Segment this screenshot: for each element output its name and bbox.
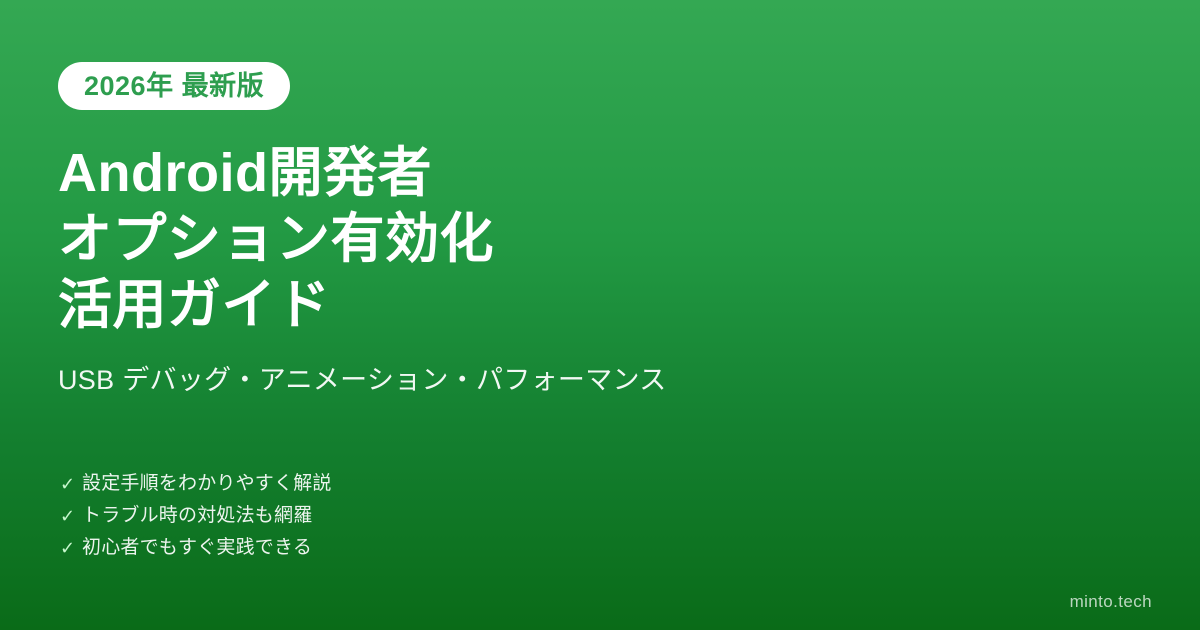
check-icon: ✓ — [60, 532, 82, 564]
title-line-1: Android開発者 — [58, 140, 1058, 206]
status-badge: 2026年 最新版 — [58, 62, 290, 110]
list-item: ✓ トラブル時の対処法も網羅 — [60, 500, 332, 532]
check-icon: ✓ — [60, 500, 82, 532]
page-subtitle: USB デバッグ・アニメーション・パフォーマンス — [58, 363, 667, 397]
og-card: 2026年 最新版 Android開発者 オプション有効化 活用ガイド USB … — [0, 0, 1200, 630]
site-watermark: minto.tech — [1070, 592, 1152, 612]
list-item-label: 初心者でもすぐ実践できる — [82, 532, 312, 564]
list-item: ✓ 設定手順をわかりやすく解説 — [60, 468, 332, 500]
list-item-label: トラブル時の対処法も網羅 — [82, 500, 312, 532]
list-item: ✓ 初心者でもすぐ実践できる — [60, 532, 332, 564]
page-title: Android開発者 オプション有効化 活用ガイド — [58, 140, 1058, 338]
feature-list: ✓ 設定手順をわかりやすく解説 ✓ トラブル時の対処法も網羅 ✓ 初心者でもすぐ… — [60, 468, 332, 564]
list-item-label: 設定手順をわかりやすく解説 — [82, 468, 332, 500]
badge-row: 2026年 最新版 — [58, 62, 290, 110]
check-icon: ✓ — [60, 468, 82, 500]
title-line-3: 活用ガイド — [58, 272, 1058, 338]
title-line-2: オプション有効化 — [58, 206, 1058, 272]
